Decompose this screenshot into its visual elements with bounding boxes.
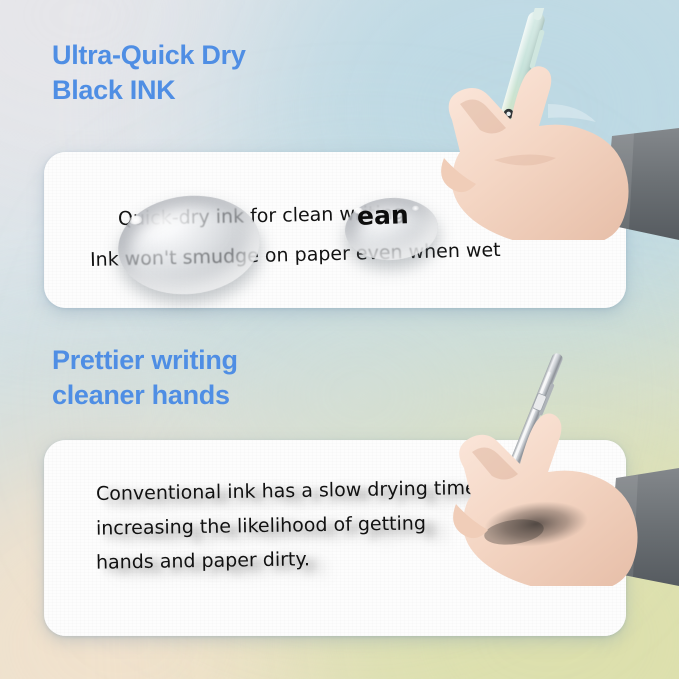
smudged-handwritten-line-3: hands and paper dirty. xyxy=(96,548,310,573)
hand-with-mint-pen xyxy=(398,8,679,240)
smudged-handwritten-line-2: increasing the likelihood of getting xyxy=(96,512,426,539)
droplet-highlight-icon xyxy=(129,215,143,225)
section-2-heading: Prettier writing cleaner hands xyxy=(52,343,238,412)
droplet-highlight-icon xyxy=(354,207,363,213)
section-1-heading: Ultra-Quick Dry Black INK xyxy=(52,38,246,107)
hand-with-silver-pen xyxy=(418,352,679,586)
product-feature-image: Ultra-Quick Dry Black INK Quick-dry ink … xyxy=(0,0,679,679)
